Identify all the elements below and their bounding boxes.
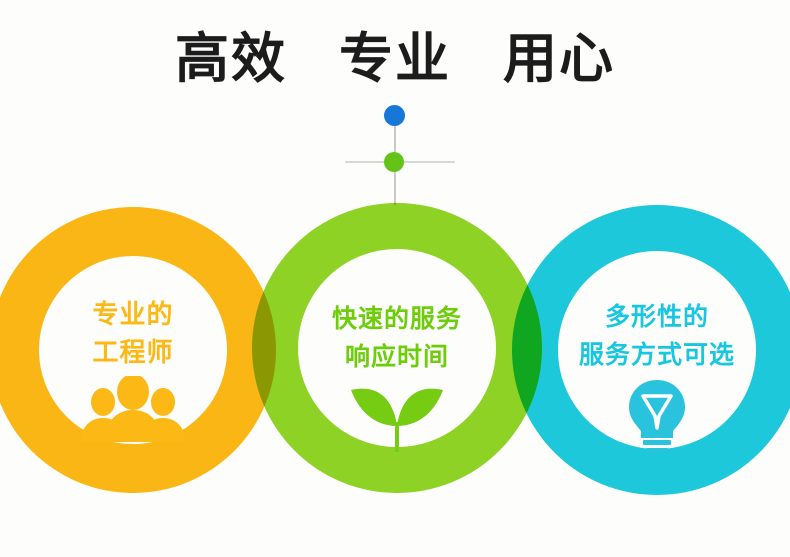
marker-green-dot-icon — [384, 152, 404, 172]
venn-ring-green[interactable] — [252, 203, 542, 493]
ring-hole-cyan — [558, 251, 756, 449]
headline-word-1: 高效 — [175, 28, 287, 90]
headline-word-2: 专业 — [339, 28, 451, 90]
headline-word-3: 用心 — [503, 28, 615, 90]
infographic-canvas: 高效专业用心 专业的 工程师 — [0, 0, 790, 557]
page-title: 高效专业用心 — [0, 28, 790, 90]
location-pin-marker — [345, 100, 455, 205]
ring-hole-orange — [39, 256, 227, 444]
marker-blue-dot-icon — [384, 105, 405, 126]
venn-ring-cyan[interactable] — [512, 205, 790, 495]
venn-ring-orange[interactable] — [0, 207, 276, 493]
ring-hole-green — [298, 249, 496, 447]
